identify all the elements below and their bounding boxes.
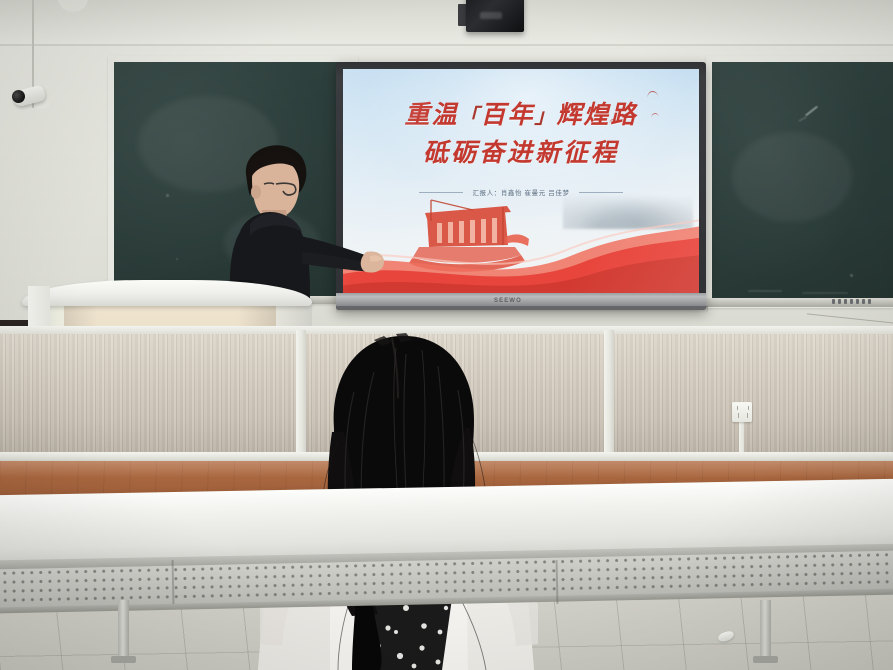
red-ribbon-art <box>343 197 699 293</box>
slide-title-line2: 砥砺奋进新征程 <box>343 133 699 169</box>
slide-title-line1: 重温「百年」辉煌路 <box>343 95 699 131</box>
slide-title-part1: 重温 <box>404 102 458 129</box>
slide-presenter-row: 汇报人：肖鑫怡 崔曼元 吕佳梦 <box>343 187 699 197</box>
ceiling <box>0 0 893 46</box>
wall-speaker-icon <box>466 0 524 32</box>
wainscot-post <box>604 330 614 456</box>
display-shadow <box>336 306 708 313</box>
desk-leg-foot <box>753 656 778 663</box>
interactive-display-screen[interactable]: 重温「百年」辉煌路 砥砺奋进新征程 汇报人：肖鑫怡 崔曼元 吕佳梦 <box>343 69 699 293</box>
slide-title-bracket-close: 」 <box>535 106 557 128</box>
desk-leg <box>118 600 129 662</box>
slide-presenter-text: 汇报人：肖鑫怡 崔曼元 吕佳梦 <box>472 187 569 197</box>
blackboard-right <box>712 62 893 302</box>
rule-right <box>579 192 623 193</box>
slide-title-bracket-open: 「 <box>458 106 480 128</box>
desk-leg-foot <box>111 656 136 663</box>
outlet-conduit <box>739 420 744 456</box>
display-ports[interactable] <box>832 299 871 304</box>
desk-leg <box>760 600 771 662</box>
podium-top-surface <box>22 280 312 306</box>
classroom-photo: 重温「百年」辉煌路 砥砺奋进新征程 汇报人：肖鑫怡 崔曼元 吕佳梦 <box>0 0 893 670</box>
slide-title-part2: 辉煌路 <box>557 102 638 129</box>
power-outlet-icon[interactable] <box>732 402 752 422</box>
slide-title-highlight: 百年 <box>480 102 534 129</box>
ceiling-trim-line <box>0 44 893 46</box>
rule-left <box>419 192 463 193</box>
display-brand-label: SEEWO <box>494 298 522 304</box>
